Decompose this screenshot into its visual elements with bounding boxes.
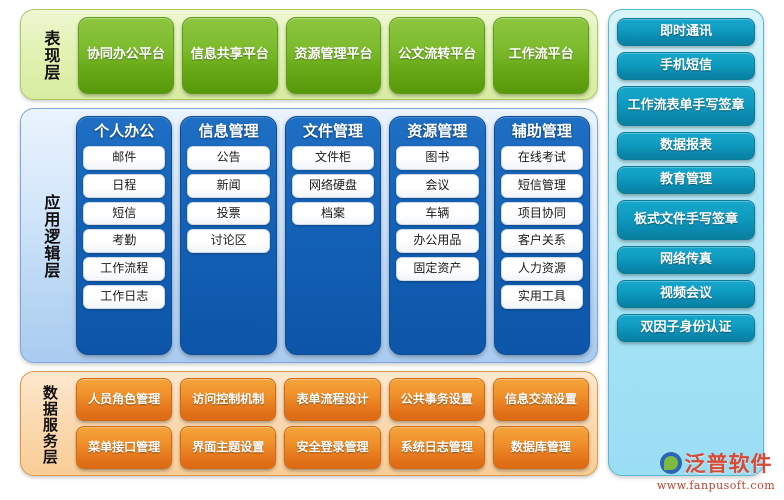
app-item-crm[interactable]: 客户关系 [501,229,583,253]
ext-item-education-management[interactable]: 教育管理 [617,166,755,194]
app-item-utilities[interactable]: 实用工具 [501,285,583,309]
data-service-layer-label: 数据服务层 [32,378,66,471]
application-column-personal-office: 个人办公 邮件 日程 短信 考勤 工作流程 工作日志 [76,116,172,355]
presentation-item-resource-management[interactable]: 资源管理平台 [286,17,382,94]
application-layer-panel: 应用逻辑层 个人办公 邮件 日程 短信 考勤 工作流程 工作日志 信息管理 公告… [20,108,598,363]
app-item-mail[interactable]: 邮件 [83,146,165,170]
ext-item-video-conference[interactable]: 视频会议 [617,280,755,308]
presentation-item-workflow-platform[interactable]: 工作流平台 [493,17,589,94]
app-item-attendance[interactable]: 考勤 [83,229,165,253]
column-title: 信息管理 [187,122,269,140]
app-item-vehicle[interactable]: 车辆 [396,202,478,226]
data-item-system-log-management[interactable]: 系统日志管理 [389,426,485,469]
app-item-office-supplies[interactable]: 办公用品 [396,229,478,253]
application-layer-columns: 个人办公 邮件 日程 短信 考勤 工作流程 工作日志 信息管理 公告 新闻 投票… [76,116,590,355]
presentation-layer-label: 表现层 [33,17,67,94]
extension-modules-panel: 即时通讯 手机短信 工作流表单手写签章 数据报表 教育管理 板式文件手写签章 网… [608,9,764,476]
app-item-project-collaboration[interactable]: 项目协同 [501,202,583,226]
data-item-info-exchange-settings[interactable]: 信息交流设置 [493,378,589,421]
application-column-resource-management: 资源管理 图书 会议 车辆 办公用品 固定资产 [389,116,485,355]
app-item-workflow[interactable]: 工作流程 [83,257,165,281]
column-title: 辅助管理 [501,122,583,140]
data-item-secure-login-management[interactable]: 安全登录管理 [284,426,380,469]
extension-panel-spacer [617,348,755,467]
data-item-menu-interface-management[interactable]: 菜单接口管理 [76,426,172,469]
data-service-layer-items: 人员角色管理 访问控制机制 表单流程设计 公共事务设置 信息交流设置 菜单接口管… [76,378,589,469]
data-item-role-management[interactable]: 人员角色管理 [76,378,172,421]
application-column-information-management: 信息管理 公告 新闻 投票 讨论区 [180,116,276,355]
watermark-url-text: www.fanpusoft.com [657,479,775,492]
data-service-row: 菜单接口管理 界面主题设置 安全登录管理 系统日志管理 数据库管理 [76,426,589,469]
ext-item-instant-messaging[interactable]: 即时通讯 [617,18,755,46]
application-column-auxiliary-management: 辅助管理 在线考试 短信管理 项目协同 客户关系 人力资源 实用工具 [494,116,590,355]
app-item-announcement[interactable]: 公告 [187,146,269,170]
data-service-layer-label-text: 数据服务层 [41,385,57,465]
presentation-item-document-flow[interactable]: 公文流转平台 [389,17,485,94]
app-item-sms-management[interactable]: 短信管理 [501,174,583,198]
column-title: 资源管理 [396,122,478,140]
ext-item-mobile-sms[interactable]: 手机短信 [617,52,755,80]
presentation-item-collaborative-office[interactable]: 协同办公平台 [78,17,174,94]
app-item-worklog[interactable]: 工作日志 [83,285,165,309]
presentation-layer-items: 协同办公平台 信息共享平台 资源管理平台 公文流转平台 工作流平台 [78,17,589,94]
app-item-file-cabinet[interactable]: 文件柜 [292,146,374,170]
app-item-archive[interactable]: 档案 [292,202,374,226]
ext-item-workflow-form-signature[interactable]: 工作流表单手写签章 [617,86,755,126]
app-item-vote[interactable]: 投票 [187,202,269,226]
column-title: 个人办公 [83,122,165,140]
presentation-item-information-sharing[interactable]: 信息共享平台 [182,17,278,94]
app-item-books[interactable]: 图书 [396,146,478,170]
architecture-diagram: 表现层 协同办公平台 信息共享平台 资源管理平台 公文流转平台 工作流平台 应用… [0,0,784,500]
column-title: 文件管理 [292,122,374,140]
ext-item-network-fax[interactable]: 网络传真 [617,246,755,274]
data-item-form-flow-design[interactable]: 表单流程设计 [284,378,380,421]
app-item-fixed-assets[interactable]: 固定资产 [396,257,478,281]
data-item-access-control[interactable]: 访问控制机制 [180,378,276,421]
application-column-file-management: 文件管理 文件柜 网络硬盘 档案 [285,116,381,355]
ext-item-two-factor-auth[interactable]: 双因子身份认证 [617,314,755,342]
data-item-database-management[interactable]: 数据库管理 [493,426,589,469]
app-item-sms[interactable]: 短信 [83,202,165,226]
presentation-layer-panel: 表现层 协同办公平台 信息共享平台 资源管理平台 公文流转平台 工作流平台 [20,9,598,100]
data-service-row: 人员角色管理 访问控制机制 表单流程设计 公共事务设置 信息交流设置 [76,378,589,421]
data-service-layer-panel: 数据服务层 人员角色管理 访问控制机制 表单流程设计 公共事务设置 信息交流设置… [20,371,598,476]
presentation-layer-label-text: 表现层 [42,30,59,81]
app-item-meeting[interactable]: 会议 [396,174,478,198]
app-item-online-exam[interactable]: 在线考试 [501,146,583,170]
app-item-network-disk[interactable]: 网络硬盘 [292,174,374,198]
ext-item-data-reports[interactable]: 数据报表 [617,132,755,160]
app-item-news[interactable]: 新闻 [187,174,269,198]
data-item-public-affairs-settings[interactable]: 公共事务设置 [389,378,485,421]
ext-item-layout-file-signature[interactable]: 板式文件手写签章 [617,200,755,240]
application-layer-label-text: 应用逻辑层 [42,194,59,279]
application-layer-label: 应用逻辑层 [31,119,69,354]
app-item-schedule[interactable]: 日程 [83,174,165,198]
data-item-ui-theme-settings[interactable]: 界面主题设置 [180,426,276,469]
app-item-forum[interactable]: 讨论区 [187,229,269,253]
app-item-hr[interactable]: 人力资源 [501,257,583,281]
